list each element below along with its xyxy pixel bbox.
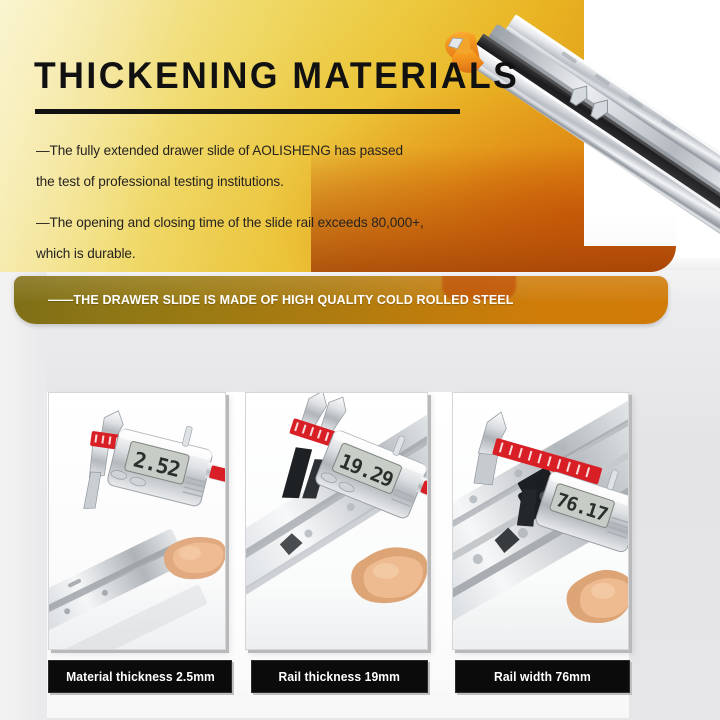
- hero-body-copy: —The fully extended drawer slide of AOLI…: [36, 138, 436, 272]
- page-title: THICKENING MATERIALS: [34, 56, 519, 96]
- hero-bullet-line-4: which is durable.: [36, 241, 436, 266]
- banner-text: ——THE DRAWER SLIDE IS MADE OF HIGH QUALI…: [48, 276, 514, 324]
- label-rail-width-text: Rail width 76mm: [494, 670, 591, 684]
- measurement-photo-rail-thickness: 19.29: [245, 392, 428, 650]
- hero-bullet-line-1: —The fully extended drawer slide of AOLI…: [36, 138, 436, 163]
- label-rail-thickness: Rail thickness 19mm: [251, 660, 428, 693]
- section-left-edge: [0, 258, 47, 720]
- drawer-slide-product-photo: [402, 0, 720, 276]
- hero-bullet-line-3: —The opening and closing time of the sli…: [36, 210, 436, 235]
- product-feature-page: THICKENING MATERIALS —The fully extended…: [0, 0, 720, 720]
- label-rail-width: Rail width 76mm: [455, 660, 630, 693]
- measurement-photo-rail-width: 76.17: [452, 392, 629, 650]
- hero-bullet-line-2: the test of professional testing institu…: [36, 169, 436, 194]
- label-rail-thickness-text: Rail thickness 19mm: [279, 670, 400, 684]
- label-material-thickness: Material thickness 2.5mm: [48, 660, 232, 693]
- title-underline-rule: [35, 109, 460, 114]
- label-material-thickness-text: Material thickness 2.5mm: [66, 670, 215, 684]
- measurement-photo-material-thickness: 2.52: [48, 392, 226, 650]
